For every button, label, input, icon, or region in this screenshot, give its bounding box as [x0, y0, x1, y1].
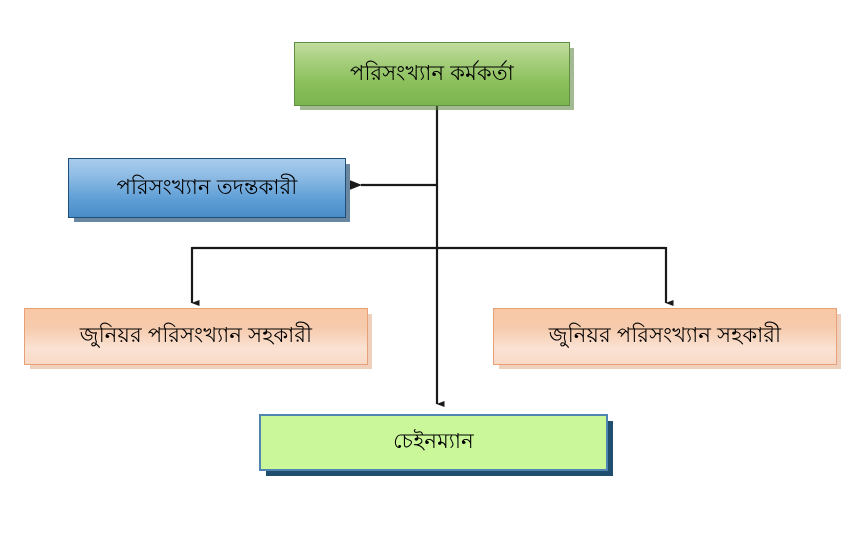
- node-junior-statistics-assistant-left-label: জুনিয়র পরিসংখ্যান সহকারী: [25, 324, 367, 348]
- node-chainman-label: চেইনম্যান: [261, 430, 606, 454]
- node-junior-statistics-assistant-right[interactable]: জুনিয়র পরিসংখ্যান সহকারী: [493, 308, 837, 365]
- node-statistics-investigator[interactable]: পরিসংখ্যান তদন্তকারী: [68, 158, 346, 218]
- node-statistics-officer-label: পরিসংখ্যান কর্মকর্তা: [295, 62, 569, 86]
- node-junior-statistics-assistant-right-label: জুনিয়র পরিসংখ্যান সহকারী: [494, 324, 836, 348]
- node-junior-statistics-assistant-left[interactable]: জুনিয়র পরিসংখ্যান সহকারী: [24, 308, 368, 365]
- org-chart-canvas: পরিসংখ্যান কর্মকর্তা পরিসংখ্যান তদন্তকার…: [0, 0, 860, 535]
- node-statistics-officer[interactable]: পরিসংখ্যান কর্মকর্তা: [294, 42, 570, 106]
- node-chainman[interactable]: চেইনম্যান: [259, 414, 608, 471]
- node-statistics-investigator-label: পরিসংখ্যান তদন্তকারী: [69, 176, 345, 200]
